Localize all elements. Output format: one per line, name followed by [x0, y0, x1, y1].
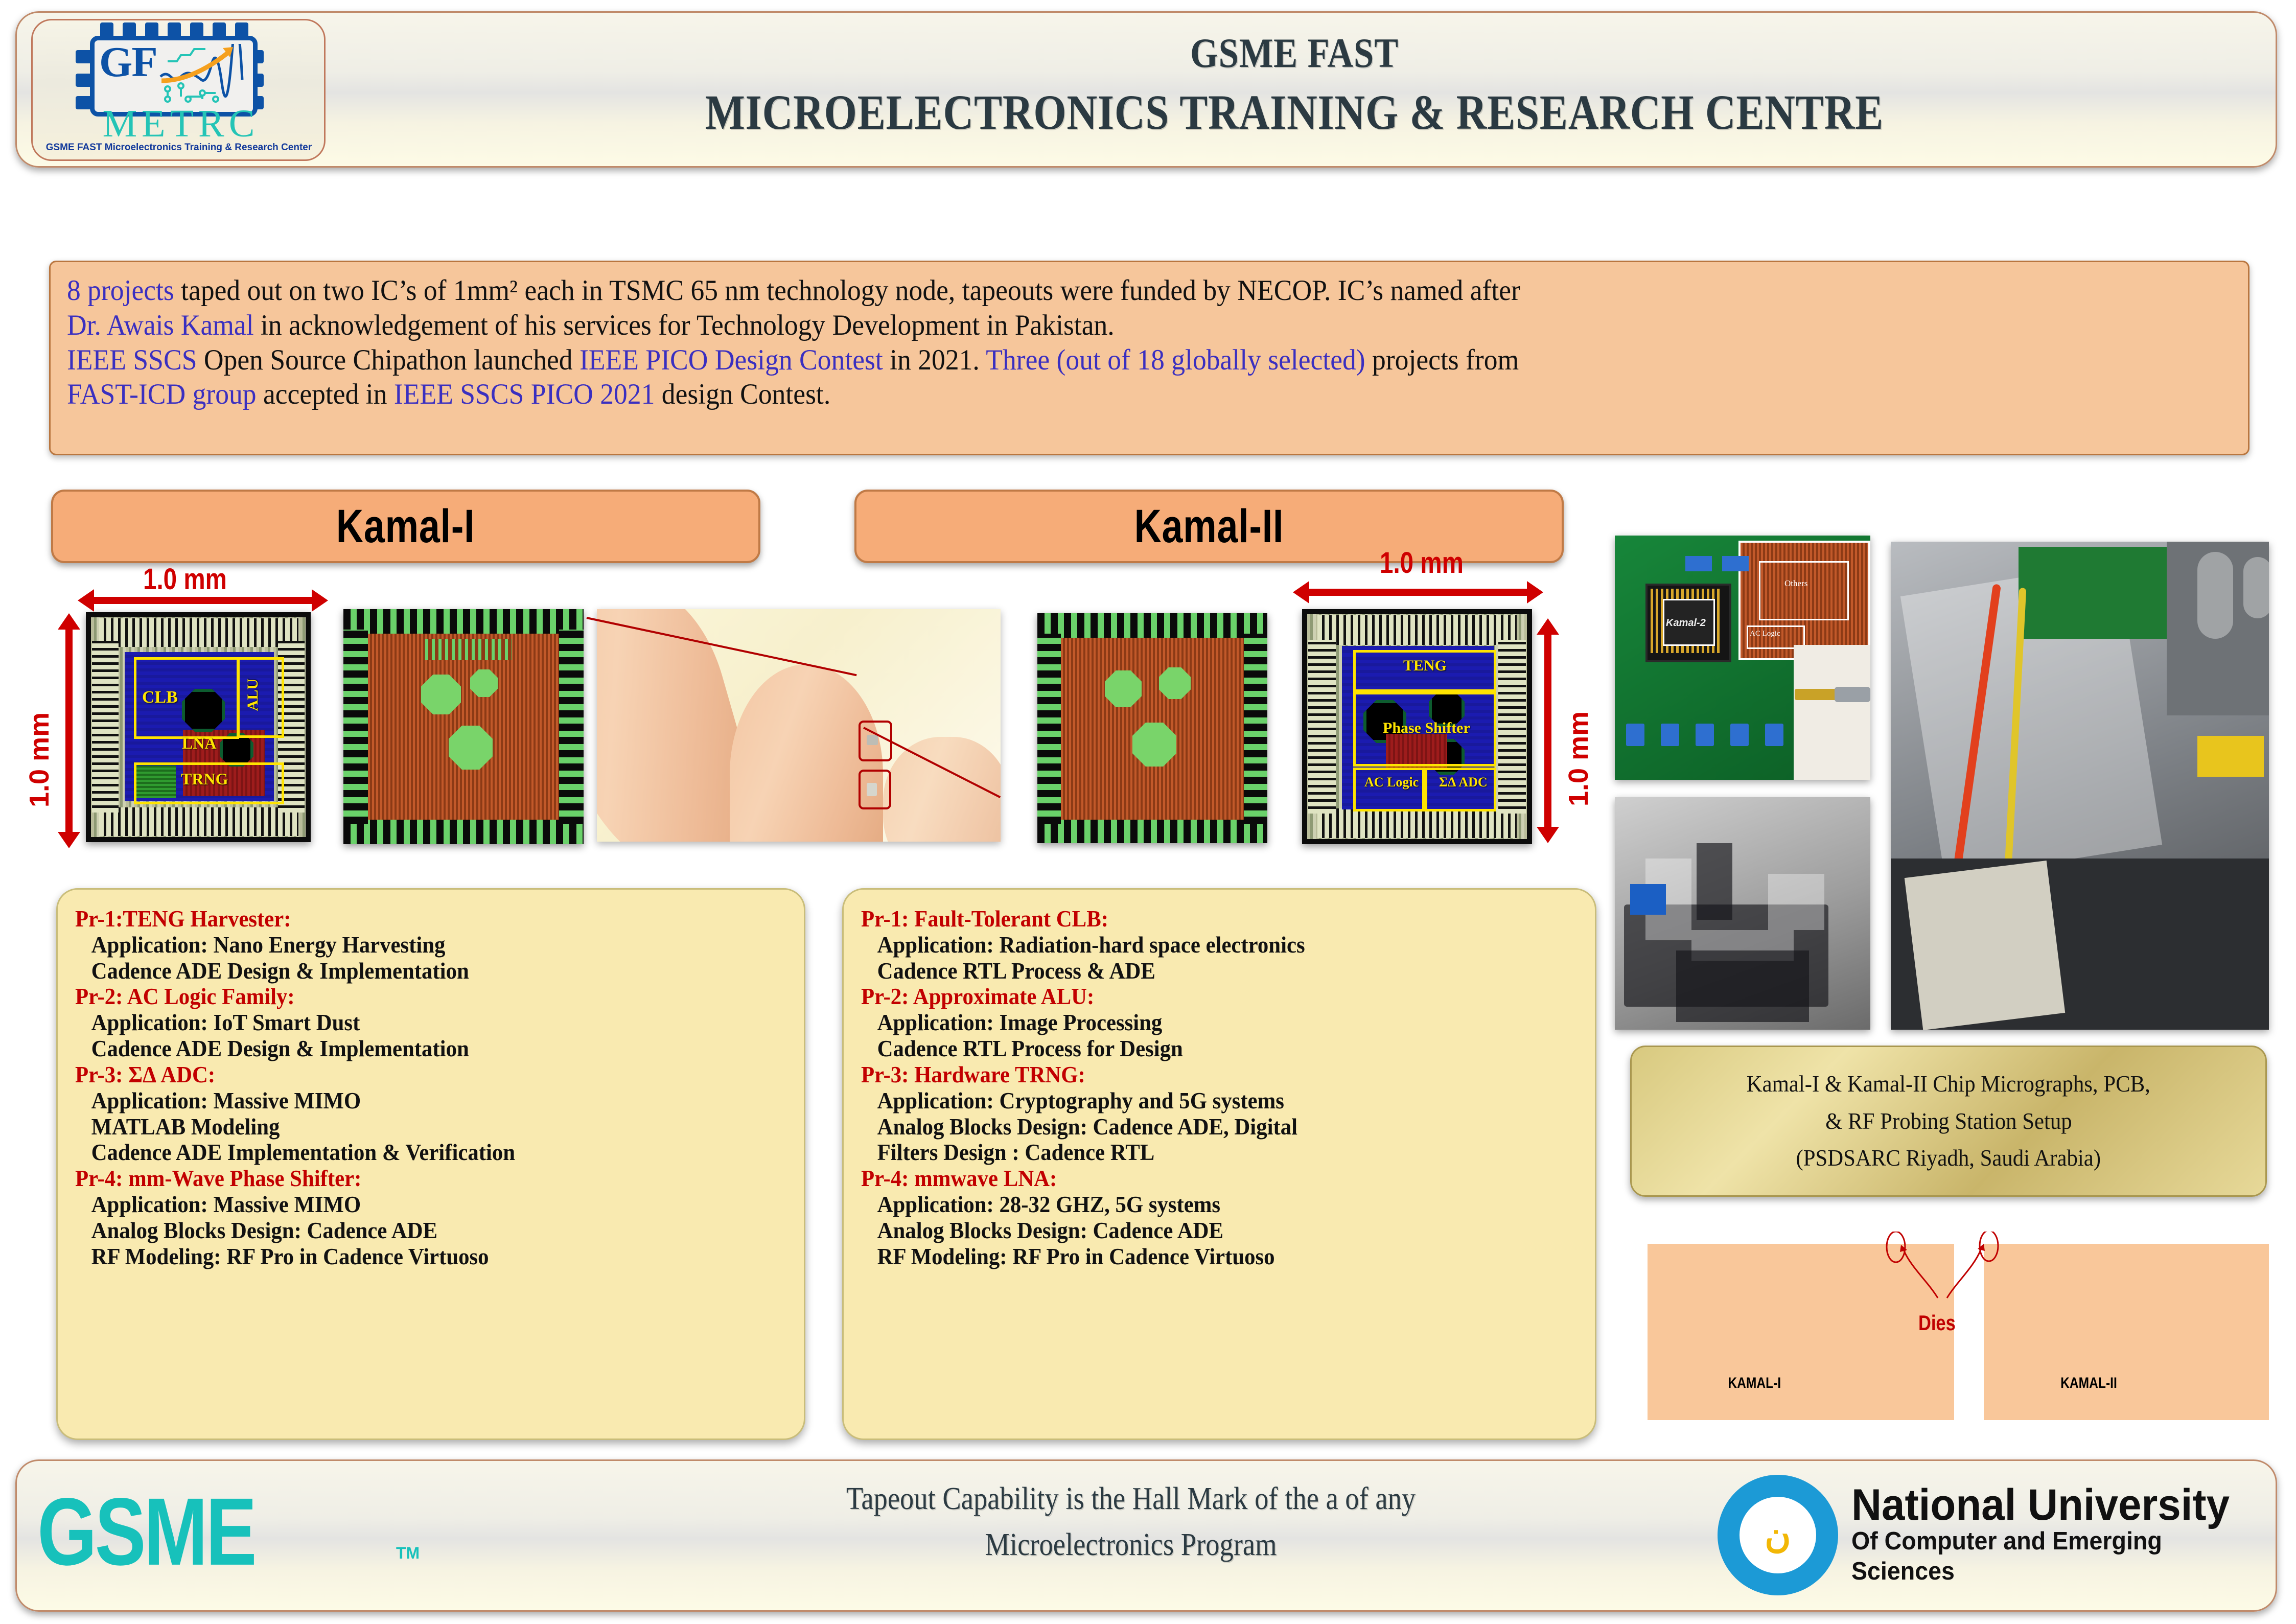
dies-label: Dies [1918, 1311, 1956, 1335]
project-detail: Cadence ADE Design & Implementation [75, 1036, 753, 1062]
project-heading: Pr-4: mm-Wave Phase Shifter: [75, 1166, 753, 1192]
intro-highlight-5: Three (out of 18 globally selected) [986, 344, 1365, 376]
intro-text-3: Open Source Chipathon launched [197, 344, 579, 376]
project-detail: Application: Massive MIMO [75, 1088, 753, 1114]
intro-highlight-1: 8 projects [67, 274, 174, 307]
die-block-label-lna: LNA [182, 734, 217, 753]
gf-logo-mark: GF [99, 42, 157, 83]
intro-highlight-2: Dr. Awais Kamal [67, 309, 254, 341]
micrograph-inset: Others AC Logic [1738, 541, 1870, 660]
die-block-label-phase-shifter: Phase Shifter [1383, 720, 1470, 737]
kamal1-micrograph [343, 609, 584, 844]
kamal1-title-bar: Kamal-I [51, 490, 760, 563]
kamal2-height-arrow [1544, 634, 1551, 828]
pcb-photo: Kamal-2 Others AC Logic [1615, 536, 1870, 780]
dies-callout-arrows [1875, 1232, 2029, 1318]
project-detail: Analog Blocks Design: Cadence ADE [861, 1218, 1543, 1244]
university-seal-icon: ن [1718, 1475, 1838, 1595]
caption-line-3: (PSDSARC Riyadh, Saudi Arabia) [1796, 1140, 2101, 1177]
kamal2-micrograph [1037, 613, 1267, 843]
intro-highlight-7: IEEE SSCS PICO 2021 [394, 378, 655, 410]
project-detail: Application: Radiation-hard space electr… [861, 932, 1543, 958]
intro-text-6: accepted in [257, 378, 394, 410]
kamal2-projects-box: Pr-1: Fault-Tolerant CLB:Application: Ra… [842, 888, 1596, 1440]
die-block-label-ac-logic: AC Logic [1364, 776, 1419, 789]
project-detail: RF Modeling: RF Pro in Cadence Virtuoso [861, 1244, 1543, 1270]
project-detail: Application: IoT Smart Dust [75, 1010, 753, 1036]
kamal2-width-label: 1.0 mm [1380, 546, 1464, 580]
die-label-kamal2: KAMAL-II [2060, 1375, 2117, 1392]
kamal1-height-arrow [65, 629, 73, 833]
intro-text-7: design Contest. [655, 378, 830, 410]
inset-label-ac-logic: AC Logic [1750, 630, 1780, 638]
die-block-label-alu: ALU [244, 679, 262, 711]
kamal1-height-label: 1.0 mm [24, 664, 55, 807]
logo-subtitle: GSME FAST Microelectronics Training & Re… [40, 142, 318, 153]
rf-probing-setup-photo [1891, 542, 2269, 1030]
intro-text-1: taped out on two IC’s of 1mm² each in TS… [174, 274, 1520, 307]
footer-tagline-line-2: Microelectronics Program [690, 1522, 1572, 1568]
kamal2-width-arrow [1308, 589, 1528, 596]
intro-text-box: 8 projects taped out on two IC’s of 1mm²… [49, 261, 2249, 455]
project-detail: Filters Design : Cadence RTL [861, 1140, 1543, 1166]
nu-logo: ن National University Of Computer and Em… [1718, 1473, 2254, 1597]
project-heading: Pr-3: ΣΔ ADC: [75, 1062, 753, 1088]
project-detail: Cadence RTL Process & ADE [861, 958, 1543, 984]
metrc-wordmark: METRC [74, 106, 288, 141]
project-heading: Pr-3: Hardware TRNG: [861, 1062, 1543, 1088]
footer-tagline-line-1: Tapeout Capability is the Hall Mark of t… [690, 1476, 1572, 1522]
project-detail: MATLAB Modeling [75, 1114, 753, 1140]
title-line-2: MICROELECTRONICS TRAINING & RESEARCH CEN… [468, 82, 2121, 143]
die-block-label-teng: TENG [1403, 657, 1447, 675]
university-name: National University [1851, 1483, 2234, 1526]
die-block-label-trng: TRNG [181, 770, 228, 788]
intro-text-5: projects from [1365, 344, 1519, 376]
kamal1-die-layout: CLB ALU LNA TRNG [86, 612, 311, 842]
project-heading: Pr-1:TENG Harvester: [75, 906, 753, 932]
kamal1-width-arrow [93, 597, 313, 604]
project-heading: Pr-4: mmwave LNA: [861, 1166, 1543, 1192]
title-line-1: GSME FAST [468, 25, 2121, 82]
kamal2-height-label: 1.0 mm [1563, 668, 1594, 806]
project-heading: Pr-1: Fault-Tolerant CLB: [861, 906, 1543, 932]
kamal1-projects-list: Pr-1:TENG Harvester:Application: Nano En… [58, 897, 804, 1270]
footer-panel: GSME TM Tapeout Capability is the Hall M… [15, 1459, 2277, 1612]
gf-metrc-logo: GF METRC GSME FAST Microelectronics Trai… [31, 19, 326, 161]
signal-wave-icon [158, 44, 245, 105]
project-heading: Pr-2: Approximate ALU: [861, 984, 1543, 1010]
kamal1-title: Kamal-I [336, 500, 475, 553]
project-heading: Pr-2: AC Logic Family: [75, 984, 753, 1010]
dies-diagram: Dies KAMAL-I KAMAL-II [1630, 1221, 2269, 1426]
project-detail: Application: Image Processing [861, 1010, 1543, 1036]
kamal1-width-label: 1.0 mm [143, 562, 227, 596]
project-detail: RF Modeling: RF Pro in Cadence Virtuoso [75, 1244, 753, 1270]
caption-line-1: Kamal-I & Kamal-II Chip Micrographs, PCB… [1747, 1065, 2150, 1103]
kamal2-die-layout: TENG Phase Shifter AC Logic ΣΔ ADC [1302, 609, 1532, 844]
project-detail: Application: Nano Energy Harvesting [75, 932, 753, 958]
project-detail: Cadence ADE Design & Implementation [75, 958, 753, 984]
seal-glyph: ن [1765, 1514, 1791, 1557]
gsme-brand-logo: GSME [37, 1476, 255, 1587]
intro-highlight-6: FAST-ICD group [67, 378, 257, 410]
kamal2-title: Kamal-II [1134, 500, 1284, 553]
project-detail: Analog Blocks Design: Cadence ADE [75, 1218, 753, 1244]
footer-tagline: Tapeout Capability is the Hall Mark of t… [630, 1476, 1632, 1568]
intro-text-4: in 2021. [883, 344, 986, 376]
inset-label-others: Others [1784, 578, 1807, 589]
intro-text-2: in acknowledgement of his services for T… [254, 309, 1115, 341]
kamal2-projects-list: Pr-1: Fault-Tolerant CLB:Application: Ra… [844, 897, 1595, 1270]
die-label-kamal1: KAMAL-I [1728, 1375, 1781, 1392]
gsme-trademark: TM [396, 1544, 420, 1563]
caption-line-2: & RF Probing Station Setup [1825, 1103, 2072, 1140]
project-detail: Application: Massive MIMO [75, 1192, 753, 1218]
probe-station-photo [1615, 797, 1870, 1030]
intro-highlight-3: IEEE SSCS [67, 344, 197, 376]
pcb-chip-label: Kamal-2 [1666, 617, 1706, 629]
project-detail: Application: Cryptography and 5G systems [861, 1088, 1543, 1114]
university-subtitle: Of Computer and Emerging Sciences [1851, 1526, 2234, 1587]
page-title: GSME FAST MICROELECTRONICS TRAINING & RE… [334, 25, 2255, 143]
project-detail: Cadence ADE Implementation & Verificatio… [75, 1140, 753, 1166]
chip-on-finger-photo [597, 609, 1001, 842]
intro-highlight-4: IEEE PICO Design Contest [579, 344, 883, 376]
photos-caption-box: Kamal-I & Kamal-II Chip Micrographs, PCB… [1630, 1046, 2267, 1197]
project-detail: Application: 28-32 GHZ, 5G systems [861, 1192, 1543, 1218]
project-detail: Cadence RTL Process for Design [861, 1036, 1543, 1062]
header-panel: GF METRC GSME FAST Microelectronics Trai… [15, 11, 2277, 168]
die-block-label-sd-adc: ΣΔ ADC [1439, 776, 1488, 789]
project-detail: Analog Blocks Design: Cadence ADE, Digit… [861, 1114, 1543, 1140]
kamal1-projects-box: Pr-1:TENG Harvester:Application: Nano En… [56, 888, 805, 1440]
die-block-label-clb: CLB [142, 688, 178, 707]
